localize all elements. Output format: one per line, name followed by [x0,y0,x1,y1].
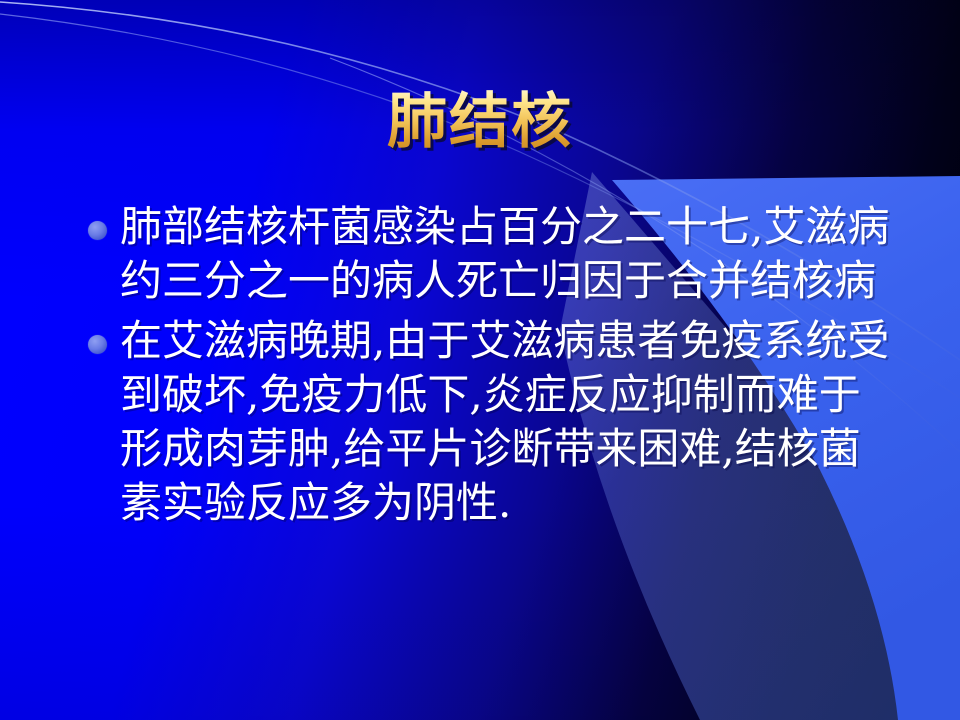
bullet-item: 在艾滋病晚期,由于艾滋病患者免疫系统受到破坏,免疫力低下,炎症反应抑制而难于形成… [72,314,902,530]
bullet-text: 在艾滋病晚期,由于艾滋病患者免疫系统受到破坏,免疫力低下,炎症反应抑制而难于形成… [120,314,902,530]
bullet-marker-icon [88,221,107,240]
bullet-marker-icon [88,335,107,354]
slide-body: 肺部结核杆菌感染占百分之二十七,艾滋病约三分之一的病人死亡归因于合并结核病 在艾… [72,200,902,536]
slide-title-container: 肺结核 [0,88,960,156]
bullet-item: 肺部结核杆菌感染占百分之二十七,艾滋病约三分之一的病人死亡归因于合并结核病 [72,200,902,308]
slide-title: 肺结核 [387,88,573,156]
slide-canvas: 肺结核 肺部结核杆菌感染占百分之二十七,艾滋病约三分之一的病人死亡归因于合并结核… [0,0,960,720]
bullet-text: 肺部结核杆菌感染占百分之二十七,艾滋病约三分之一的病人死亡归因于合并结核病 [120,200,902,308]
